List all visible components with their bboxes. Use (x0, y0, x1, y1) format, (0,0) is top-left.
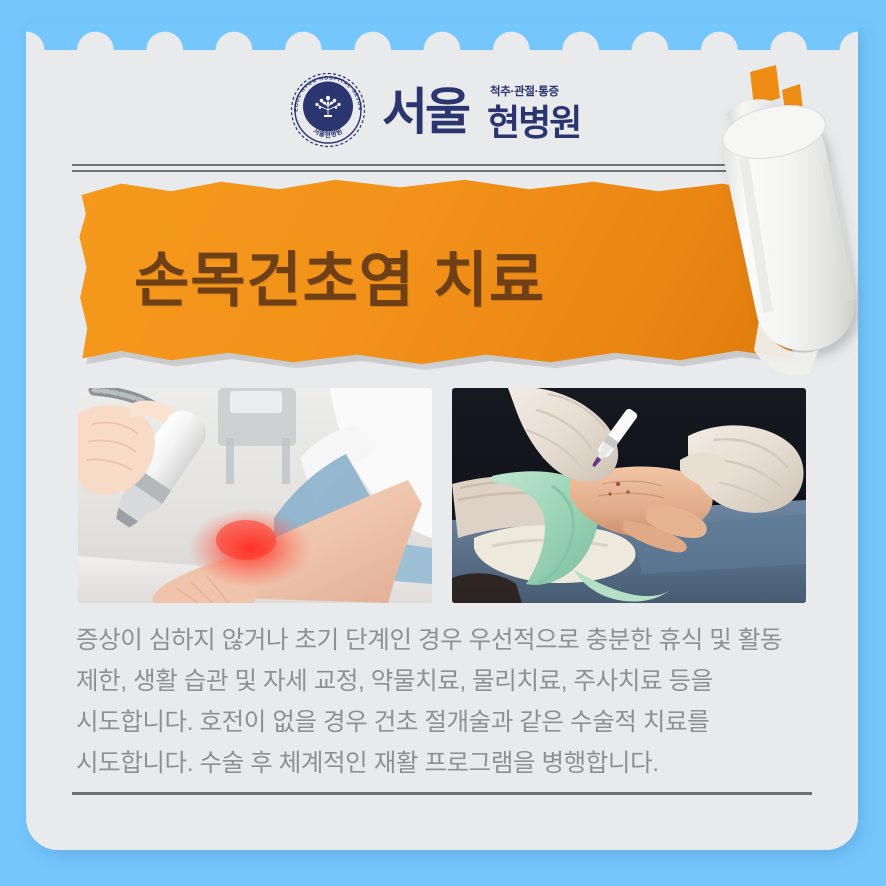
wordmark-seoul-text: 서울 (382, 84, 470, 140)
page-title: 손목건초염 치료 (134, 232, 545, 319)
wordmark-right-group: 척추·관절·통증 현병원 (486, 77, 594, 143)
brand-header: SEOUL HYUN HOSPITAL SEJONG 서울현병원 서울 척추·관… (26, 58, 858, 162)
hospital-emblem-icon: SEOUL HYUN HOSPITAL SEJONG 서울현병원 (290, 72, 366, 148)
photo-row (78, 388, 806, 603)
photo-laser-therapy (78, 388, 432, 603)
wordmark-hospital-text: 현병원 (487, 102, 580, 143)
wordmark: 서울 척추·관절·통증 현병원 (380, 77, 594, 143)
wordmark-seoul: 서울 (380, 77, 484, 143)
footer-divider (72, 792, 812, 795)
content-card: SEOUL HYUN HOSPITAL SEJONG 서울현병원 서울 척추·관… (26, 24, 858, 850)
title-banner-wrap: 손목건초염 치료 (78, 176, 798, 376)
brand-tagline: 척추·관절·통증 (486, 83, 594, 99)
wordmark-hospital: 현병원 (486, 101, 594, 143)
header-divider (72, 164, 812, 172)
scalloped-top-edge (26, 24, 858, 50)
card-canvas: SEOUL HYUN HOSPITAL SEJONG 서울현병원 서울 척추·관… (0, 0, 886, 886)
header-divider-line-bottom (72, 170, 812, 172)
body-paragraph: 증상이 심하지 않거나 초기 단계인 경우 우선적으로 충분한 휴식 및 활동 … (76, 620, 816, 784)
header-divider-line-top (72, 164, 812, 166)
photo-surgical-procedure (452, 388, 806, 603)
